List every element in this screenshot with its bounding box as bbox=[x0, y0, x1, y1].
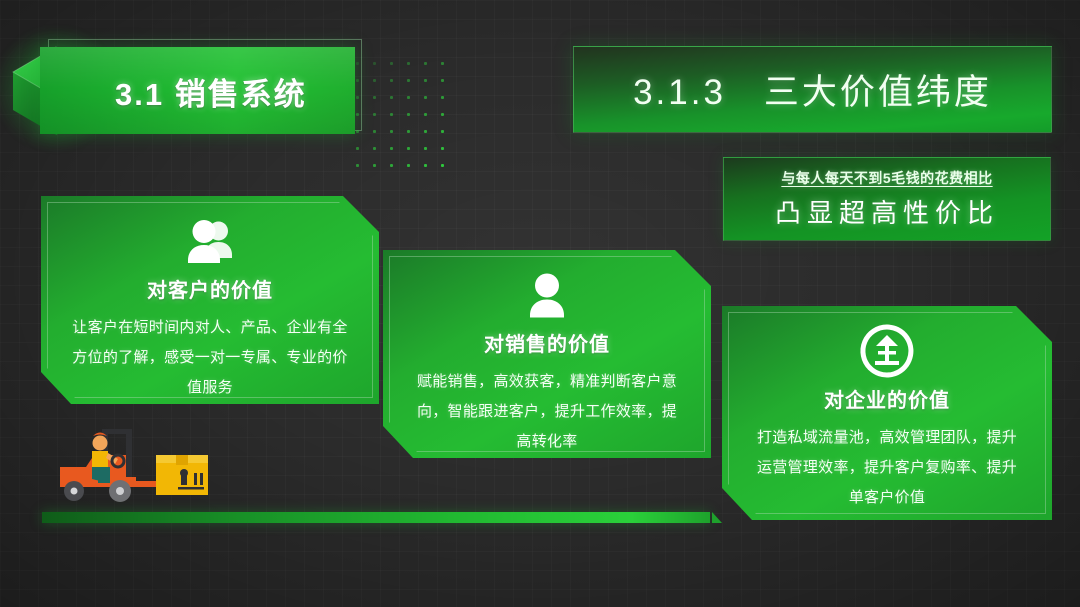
dot bbox=[390, 113, 393, 116]
dot bbox=[373, 147, 376, 150]
dot bbox=[390, 96, 393, 99]
dot bbox=[390, 130, 393, 133]
forklift-illustration-svg bbox=[52, 425, 232, 510]
dot bbox=[373, 130, 376, 133]
dot bbox=[356, 130, 359, 133]
enterprise-circle-icon-svg bbox=[859, 324, 915, 378]
dot bbox=[356, 96, 359, 99]
dot bbox=[441, 79, 444, 82]
dot bbox=[356, 113, 359, 116]
dot bbox=[407, 164, 410, 167]
dot bbox=[390, 147, 393, 150]
dot bbox=[356, 147, 359, 150]
value-card-customer[interactable]: 对客户的价值 让客户在短时间内对人、产品、企业有全方位的了解，感受一对一专属、专… bbox=[41, 196, 379, 404]
dot bbox=[407, 96, 410, 99]
bottom-accent-bar-cap bbox=[712, 512, 722, 523]
dot bbox=[390, 79, 393, 82]
dot-grid-decoration bbox=[356, 62, 468, 172]
enterprise-circle-icon bbox=[722, 322, 1052, 380]
value-card-enterprise-body: 打造私域流量池，高效管理团队，提升运营管理效率，提升客户复购率、提升单客户价值 bbox=[722, 413, 1052, 513]
user-icon-svg bbox=[523, 272, 571, 318]
dot bbox=[390, 62, 393, 65]
bottom-accent-bar bbox=[42, 512, 710, 523]
dot bbox=[373, 164, 376, 167]
slide-canvas: 3.1 销售系统 3.1.3 三大价值纬度 与每人每天不到5毛钱的花费相比 凸显… bbox=[0, 0, 1080, 607]
dot bbox=[356, 62, 359, 65]
value-card-customer-title: 对客户的价值 bbox=[41, 274, 379, 303]
value-card-sales[interactable]: 对销售的价值 赋能销售，高效获客，精准判断客户意向，智能跟进客户，提升工作效率，… bbox=[383, 250, 711, 458]
dot bbox=[424, 62, 427, 65]
value-card-sales-title: 对销售的价值 bbox=[383, 328, 711, 357]
dot bbox=[407, 130, 410, 133]
dot bbox=[424, 147, 427, 150]
dot bbox=[373, 79, 376, 82]
dot bbox=[441, 96, 444, 99]
dot bbox=[373, 96, 376, 99]
dot bbox=[424, 130, 427, 133]
dot bbox=[441, 130, 444, 133]
forklift-illustration bbox=[52, 425, 232, 510]
user-icon bbox=[383, 266, 711, 324]
dot bbox=[424, 164, 427, 167]
dot bbox=[373, 62, 376, 65]
dot bbox=[441, 147, 444, 150]
heading-text: 3.1.3 三大价值纬度 bbox=[574, 47, 1051, 132]
dot bbox=[424, 79, 427, 82]
dot bbox=[390, 164, 393, 167]
dot bbox=[424, 96, 427, 99]
dot bbox=[407, 62, 410, 65]
dot bbox=[441, 113, 444, 116]
dot bbox=[373, 113, 376, 116]
dot bbox=[441, 62, 444, 65]
section-title-text: 3.1 销售系统 bbox=[115, 69, 307, 114]
users-icon-svg bbox=[183, 218, 237, 264]
heading-banner: 3.1.3 三大价值纬度 bbox=[573, 46, 1052, 133]
dot bbox=[407, 147, 410, 150]
dot bbox=[356, 79, 359, 82]
dot bbox=[356, 164, 359, 167]
users-icon bbox=[41, 212, 379, 270]
value-card-sales-body: 赋能销售，高效获客，精准判断客户意向，智能跟进客户，提升工作效率，提高转化率 bbox=[383, 357, 711, 457]
highlight-main-text: 凸显超高性价比 bbox=[775, 193, 999, 230]
section-title-banner: 3.1 销售系统 bbox=[40, 47, 355, 134]
value-card-customer-body: 让客户在短时间内对人、产品、企业有全方位的了解，感受一对一专属、专业的价值服务 bbox=[41, 303, 379, 403]
dot bbox=[441, 164, 444, 167]
dot bbox=[407, 113, 410, 116]
value-card-enterprise[interactable]: 对企业的价值 打造私域流量池，高效管理团队，提升运营管理效率，提升客户复购率、提… bbox=[722, 306, 1052, 520]
dot bbox=[407, 79, 410, 82]
value-card-enterprise-title: 对企业的价值 bbox=[722, 384, 1052, 413]
dot bbox=[424, 113, 427, 116]
forklift-icon bbox=[60, 429, 156, 502]
highlight-subtitle: 与每人每天不到5毛钱的花费相比 bbox=[781, 168, 992, 188]
highlight-banner: 与每人每天不到5毛钱的花费相比 凸显超高性价比 bbox=[723, 157, 1051, 241]
package-box-icon bbox=[156, 455, 208, 495]
